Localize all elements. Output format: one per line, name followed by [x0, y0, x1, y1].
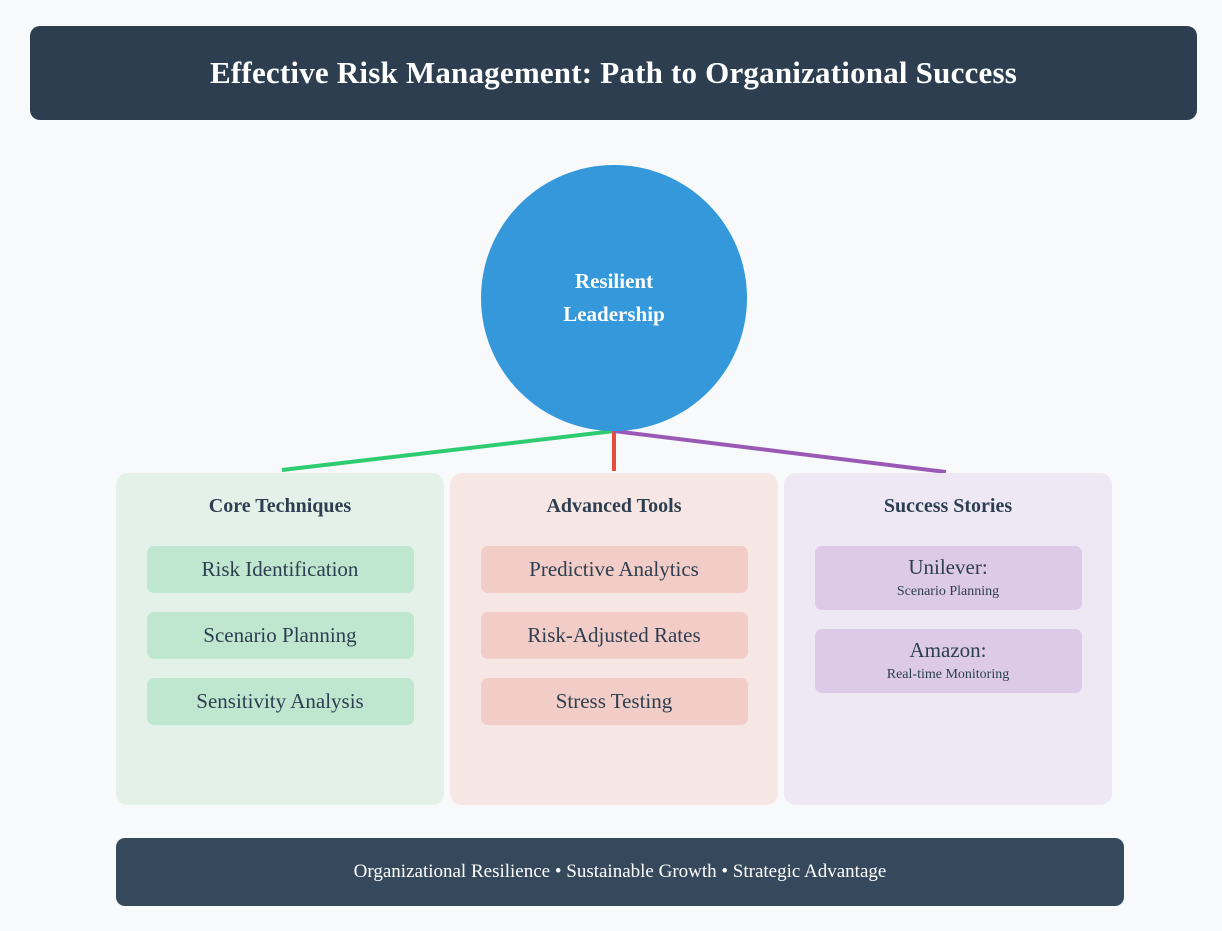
chip-sublabel: Real-time Monitoring [887, 666, 1009, 684]
column-title-advanced-tools: Advanced Tools [546, 495, 681, 518]
chip-label: Risk Identification [202, 557, 359, 582]
hub-label: Resilient Leadership [563, 265, 665, 330]
category-columns: Core Techniques Risk Identification Scen… [116, 473, 1112, 805]
chip-risk-identification[interactable]: Risk Identification [147, 546, 414, 593]
page-title: Effective Risk Management: Path to Organ… [210, 55, 1017, 91]
chip-label: Predictive Analytics [529, 557, 699, 582]
chip-unilever[interactable]: Unilever: Scenario Planning [815, 546, 1082, 610]
connector-core-techniques [282, 431, 614, 470]
chip-label: Unilever: [908, 555, 987, 580]
footer-text: Organizational Resilience • Sustainable … [354, 861, 887, 883]
column-advanced-tools[interactable]: Advanced Tools Predictive Analytics Risk… [450, 473, 778, 805]
footer-bar: Organizational Resilience • Sustainable … [116, 838, 1124, 906]
chip-sensitivity-analysis[interactable]: Sensitivity Analysis [147, 678, 414, 725]
diagram-canvas: Effective Risk Management: Path to Organ… [0, 0, 1222, 931]
chip-label: Sensitivity Analysis [196, 689, 363, 714]
column-core-techniques[interactable]: Core Techniques Risk Identification Scen… [116, 473, 444, 805]
chip-stress-testing[interactable]: Stress Testing [481, 678, 748, 725]
chip-sublabel: Scenario Planning [897, 583, 999, 601]
title-bar: Effective Risk Management: Path to Organ… [30, 26, 1197, 120]
connector-success-stories [614, 431, 946, 472]
chip-predictive-analytics[interactable]: Predictive Analytics [481, 546, 748, 593]
column-title-core-techniques: Core Techniques [209, 495, 351, 518]
chip-label: Scenario Planning [203, 623, 356, 648]
hub-node-resilient-leadership[interactable]: Resilient Leadership [481, 165, 747, 431]
chip-risk-adjusted-rates[interactable]: Risk-Adjusted Rates [481, 612, 748, 659]
chip-list-success-stories: Unilever: Scenario Planning Amazon: Real… [784, 546, 1112, 693]
chip-label: Risk-Adjusted Rates [527, 623, 700, 648]
column-success-stories[interactable]: Success Stories Unilever: Scenario Plann… [784, 473, 1112, 805]
chip-label: Stress Testing [556, 689, 673, 714]
chip-list-advanced-tools: Predictive Analytics Risk-Adjusted Rates… [450, 546, 778, 725]
chip-amazon[interactable]: Amazon: Real-time Monitoring [815, 629, 1082, 693]
chip-list-core-techniques: Risk Identification Scenario Planning Se… [116, 546, 444, 725]
chip-label: Amazon: [910, 638, 987, 663]
chip-scenario-planning[interactable]: Scenario Planning [147, 612, 414, 659]
column-title-success-stories: Success Stories [884, 495, 1012, 518]
